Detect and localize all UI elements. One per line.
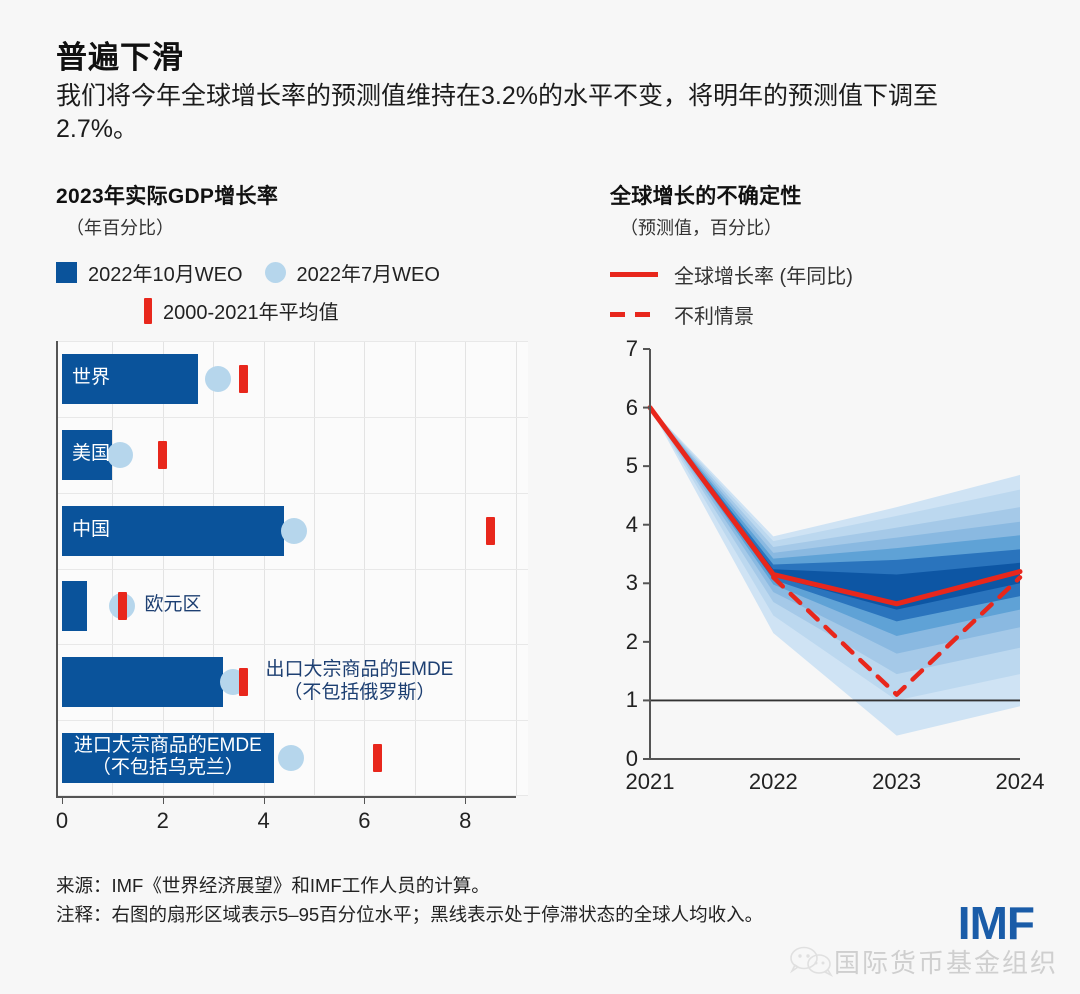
legend-item-average[interactable]: 2000-2021年平均值 <box>144 296 339 325</box>
bar-october-weo[interactable] <box>62 581 87 631</box>
legend-item-weo-october[interactable]: 2022年10月WEO <box>56 258 243 287</box>
source-text: 来源：IMF《世界经济展望》和IMF工作人员的计算。 <box>56 872 763 901</box>
y-axis-label: 4 <box>626 512 638 538</box>
marker-historical-average[interactable] <box>239 365 248 393</box>
left-legend-row-1: 2022年10月WEO 2022年7月WEO <box>56 258 576 287</box>
x-axis-label: 4 <box>257 808 269 834</box>
fan-chart[interactable]: 012345672021202220232024 <box>610 341 1030 801</box>
marker-historical-average[interactable] <box>158 441 167 469</box>
x-axis-tick <box>264 796 265 804</box>
marker-historical-average[interactable] <box>373 744 382 772</box>
left-legend-row-2: 2000-2021年平均值 <box>56 296 576 325</box>
gridline-horizontal <box>56 417 528 418</box>
x-axis-tick <box>465 796 466 804</box>
y-axis-label: 2 <box>626 629 638 655</box>
gridline-horizontal <box>56 341 528 342</box>
y-axis-label: 1 <box>626 687 638 713</box>
marker-historical-average[interactable] <box>118 592 127 620</box>
page-title: 普遍下滑 <box>56 32 184 77</box>
legend-label-global-growth: 全球增长率 (年同比) <box>674 260 853 289</box>
bar-category-label: 进口大宗商品的EMDE （不包括乌克兰） <box>68 735 268 780</box>
gridline-horizontal <box>56 493 528 494</box>
right-panel-header: 全球增长的不确定性 （预测值，百分比） 全球增长率 (年同比) 不利情景 <box>610 180 1050 329</box>
legend-label-average: 2000-2021年平均值 <box>163 296 339 325</box>
bar-category-label: 中国 <box>72 519 110 541</box>
fan-chart-svg <box>610 341 1030 801</box>
wechat-icon <box>788 945 834 979</box>
marker-july-weo[interactable] <box>205 366 231 392</box>
x-axis-label: 6 <box>358 808 370 834</box>
left-chart-title: 2023年实际GDP增长率 <box>56 180 576 210</box>
y-axis-label: 7 <box>626 336 638 362</box>
left-chart-subtitle: （年百分比） <box>56 214 576 240</box>
x-axis-label: 2022 <box>749 769 798 795</box>
x-axis-label: 2 <box>157 808 169 834</box>
imf-logo: IMF <box>958 896 1034 950</box>
gridline-horizontal <box>56 644 528 645</box>
gridline-horizontal <box>56 569 528 570</box>
note-text: 注释：右图的扇形区域表示5–95百分位水平；黑线表示处于停滞状态的全球人均收入。 <box>56 901 763 930</box>
solid-line-swatch-icon <box>610 272 658 277</box>
bar-category-label: 美国 <box>72 443 110 465</box>
x-axis-tick <box>62 796 63 804</box>
x-axis-tick <box>364 796 365 804</box>
y-axis-label: 3 <box>626 570 638 596</box>
bar-category-label: 欧元区 <box>144 594 201 616</box>
dashed-line-swatch-icon <box>610 312 658 317</box>
bar-category-label: 出口大宗商品的EMDE （不包括俄罗斯） <box>265 659 453 704</box>
x-axis-label: 2024 <box>996 769 1045 795</box>
x-axis-label: 0 <box>56 808 68 834</box>
bar-swatch-icon <box>144 298 152 324</box>
x-axis-line <box>56 796 516 798</box>
bar-chart-gridlines <box>56 341 528 796</box>
marker-july-weo[interactable] <box>107 442 133 468</box>
legend-label-adverse-scenario: 不利情景 <box>674 300 754 329</box>
y-axis-label: 6 <box>626 395 638 421</box>
footer-notes: 来源：IMF《世界经济展望》和IMF工作人员的计算。 注释：右图的扇形区域表示5… <box>56 872 763 929</box>
legend-item-global-growth[interactable]: 全球增长率 (年同比) <box>610 260 1050 289</box>
legend-item-weo-july[interactable]: 2022年7月WEO <box>265 258 440 287</box>
bar-chart-y-axis <box>56 341 58 796</box>
square-swatch-icon <box>56 262 77 283</box>
bar-category-label: 世界 <box>72 367 110 389</box>
y-axis-label: 5 <box>626 453 638 479</box>
gridline-horizontal <box>56 720 528 721</box>
right-chart-subtitle: （预测值，百分比） <box>610 214 1050 240</box>
legend-label-weo-october: 2022年10月WEO <box>88 258 243 287</box>
x-axis-label: 8 <box>459 808 471 834</box>
legend-label-weo-july: 2022年7月WEO <box>297 258 440 287</box>
marker-july-weo[interactable] <box>281 518 307 544</box>
legend-item-adverse-scenario[interactable]: 不利情景 <box>610 300 1050 329</box>
right-chart-title: 全球增长的不确定性 <box>610 180 1050 210</box>
marker-historical-average[interactable] <box>486 517 495 545</box>
left-panel-header: 2023年实际GDP增长率 （年百分比） 2022年10月WEO 2022年7月… <box>56 180 576 325</box>
bar-chart[interactable]: 世界美国中国欧元区出口大宗商品的EMDE （不包括俄罗斯）进口大宗商品的EMDE… <box>56 341 528 796</box>
marker-historical-average[interactable] <box>239 668 248 696</box>
page-subtitle: 我们将今年全球增长率的预测值维持在3.2%的水平不变，将明年的预测值下调至2.7… <box>56 80 1016 146</box>
circle-swatch-icon <box>265 262 286 283</box>
bar-october-weo[interactable] <box>62 657 223 707</box>
x-axis-label: 2023 <box>872 769 921 795</box>
x-axis-label: 2021 <box>626 769 675 795</box>
x-axis-tick <box>163 796 164 804</box>
